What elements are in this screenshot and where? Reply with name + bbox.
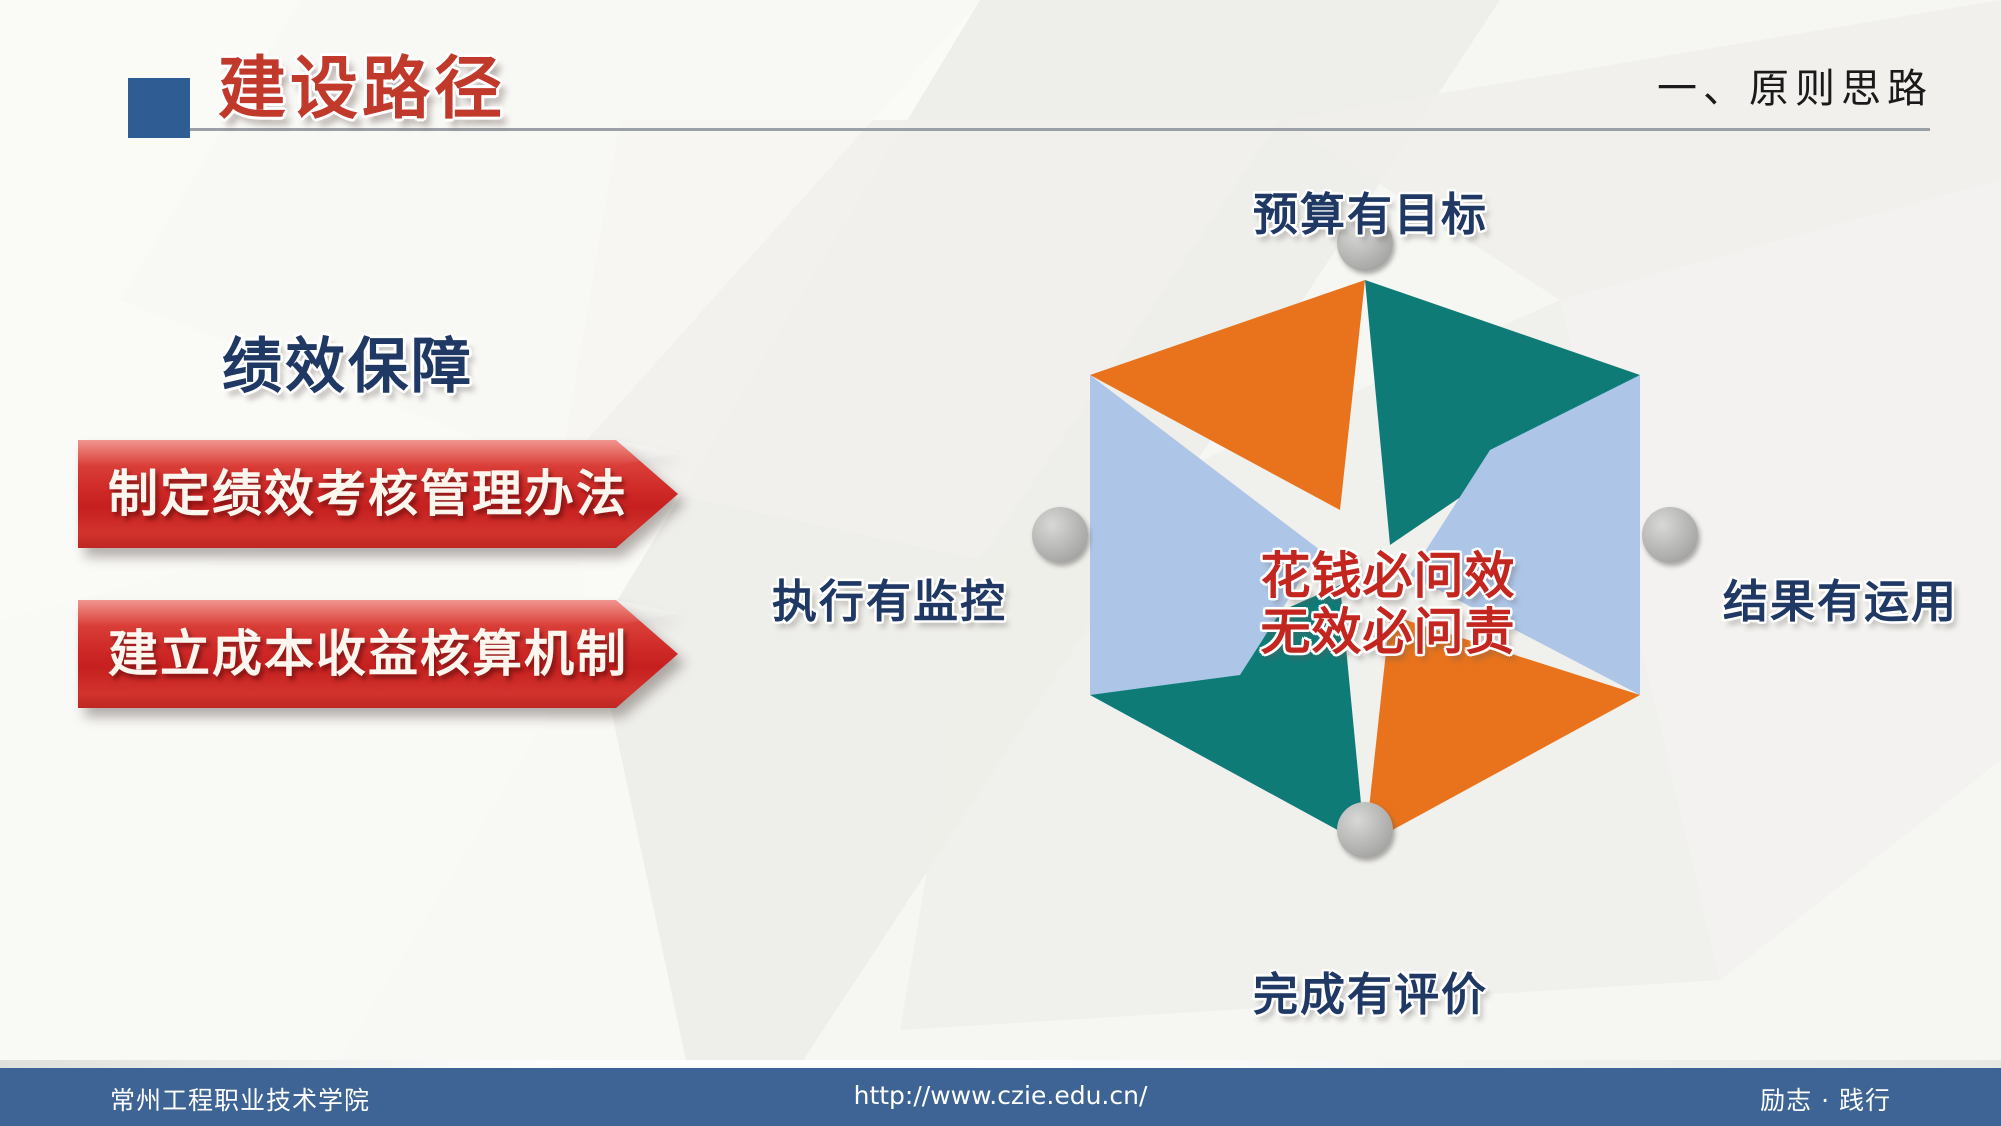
footer-top-strip <box>0 1060 2001 1068</box>
node-dot-bottom[interactable] <box>1337 802 1393 858</box>
section-label: 一、原则思路 <box>1657 56 1933 114</box>
header-marker-square <box>128 78 190 138</box>
arrow-banner-2-label: 建立成本收益核算机制 <box>108 600 628 708</box>
slide-canvas: 建设路径 一、原则思路 绩效保障 制定绩效考核管理办法 建立成本收益核算机制 <box>0 0 2001 1126</box>
arrow-banner-1-label: 制定绩效考核管理办法 <box>108 440 628 548</box>
diagram-label-bottom: 完成有评价 <box>1253 958 1488 1023</box>
center-line-1: 花钱必问效 <box>1238 548 1538 604</box>
page-title: 建设路径 <box>218 33 506 132</box>
diagram-label-right: 结果有运用 <box>1723 565 1958 630</box>
footer-bar: 常州工程职业技术学院 http://www.czie.edu.cn/ 励志 · … <box>0 1068 2001 1126</box>
background-decoration <box>0 0 2001 1126</box>
node-dot-left[interactable] <box>1032 507 1088 563</box>
arrow-banner-1[interactable]: 制定绩效考核管理办法 <box>78 440 678 548</box>
center-line-2: 无效必问责 <box>1238 604 1538 660</box>
diagram-center-text: 花钱必问效 无效必问责 <box>1238 548 1538 660</box>
arrow-banner-2[interactable]: 建立成本收益核算机制 <box>78 600 678 708</box>
node-dot-right[interactable] <box>1642 507 1698 563</box>
footer-url[interactable]: http://www.czie.edu.cn/ <box>0 1081 2001 1110</box>
diagram-label-top: 预算有目标 <box>1253 178 1488 243</box>
footer-motto: 励志 · 践行 <box>1760 1081 1891 1117</box>
diagram-label-left: 执行有监控 <box>772 565 1007 630</box>
background-polygons <box>0 0 2001 1126</box>
left-panel-heading: 绩效保障 <box>222 318 474 405</box>
